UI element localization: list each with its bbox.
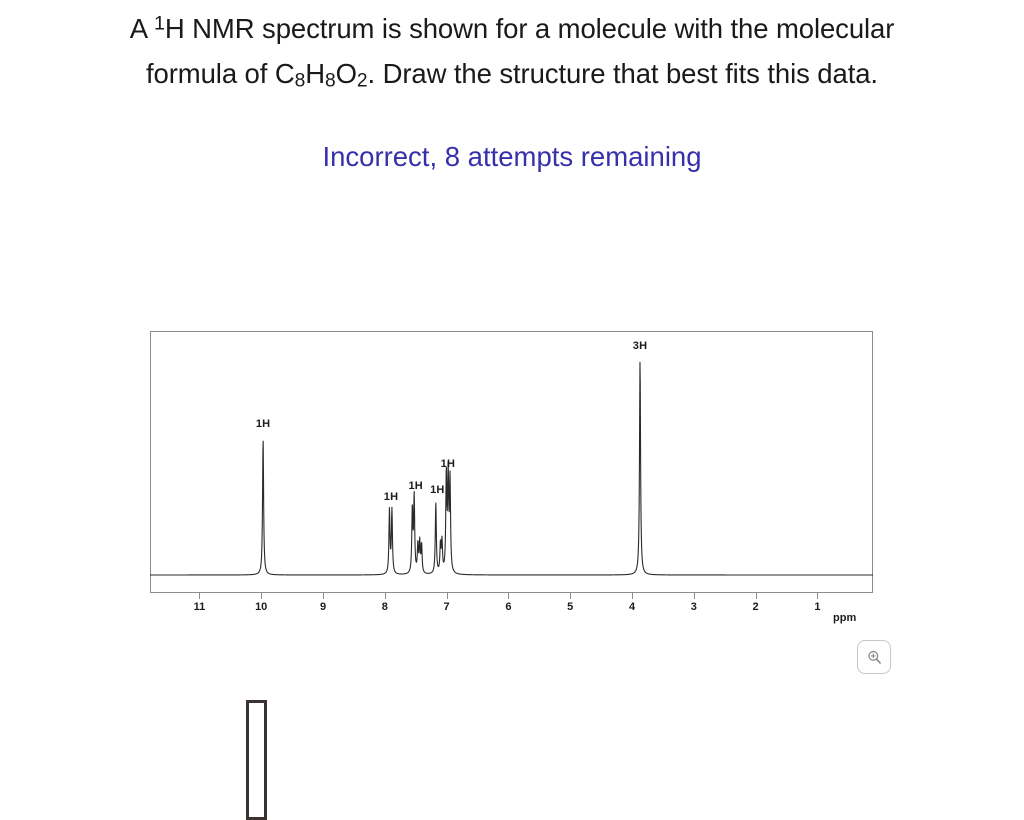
hydrogen-count-subscript: 8 [325,70,336,91]
peak-integration-label: 1H [430,484,444,496]
axis-tick-label: 9 [320,601,326,613]
hydrogen-isotope-superscript: 1 [154,13,165,35]
question-line-1-part-a: A [130,13,154,44]
axis-tick [694,592,695,599]
axis-tick-label: 1 [814,601,820,613]
question-line-2-part-c: O [336,58,357,89]
axis-tick [447,592,448,599]
feedback-message: Incorrect, 8 attempts remaining [0,138,1024,176]
peak-integration-label: 3H [633,340,647,352]
axis-tick [632,592,633,599]
axis-tick-label: 2 [753,601,759,613]
axis-tick [570,592,571,599]
peak-integration-label: 1H [256,418,270,430]
zoom-in-button[interactable] [857,640,891,674]
peak-integration-label: 1H [441,458,455,470]
question-line-2-part-b: H [305,58,325,89]
question-line-1: A 1H NMR spectrum is shown for a molecul… [0,6,1024,51]
axis-tick [199,592,200,599]
carbon-count-subscript: 8 [295,70,306,91]
axis-tick [817,592,818,599]
axis-tick [385,592,386,599]
question-prompt: A 1H NMR spectrum is shown for a molecul… [0,0,1024,96]
axis-tick [323,592,324,599]
axis-tick [756,592,757,599]
structure-drawing-canvas[interactable] [246,700,267,820]
axis-tick-label: 7 [444,601,450,613]
question-line-2-part-d: . Draw the structure that best fits this… [367,58,878,89]
axis-tick-label: 5 [567,601,573,613]
axis-tick-label: 10 [255,601,267,613]
axis-tick-label: 8 [382,601,388,613]
question-line-2-part-a: formula of C [146,58,295,89]
axis-tick-label: 11 [194,601,206,613]
magnifier-plus-icon [866,649,883,666]
ppm-axis: 1110987654321 ppm [150,592,873,626]
axis-tick [261,592,262,599]
axis-unit-label: ppm [833,612,856,624]
question-line-2: formula of C8H8O2. Draw the structure th… [0,51,1024,96]
axis-tick-label: 4 [629,601,635,613]
axis-tick-label: 3 [691,601,697,613]
peak-integration-label: 1H [408,480,422,492]
oxygen-count-subscript: 2 [357,70,368,91]
axis-baseline [150,592,873,593]
axis-tick [508,592,509,599]
axis-tick-label: 6 [505,601,511,613]
spectrum-trace [150,331,873,593]
nmr-spectrum-figure: 1H1H1H1H1H3H [150,331,873,593]
peak-integration-label: 1H [384,491,398,503]
spectrum-line-path [150,362,873,575]
question-line-1-part-b: H NMR spectrum is shown for a molecule w… [165,13,894,44]
